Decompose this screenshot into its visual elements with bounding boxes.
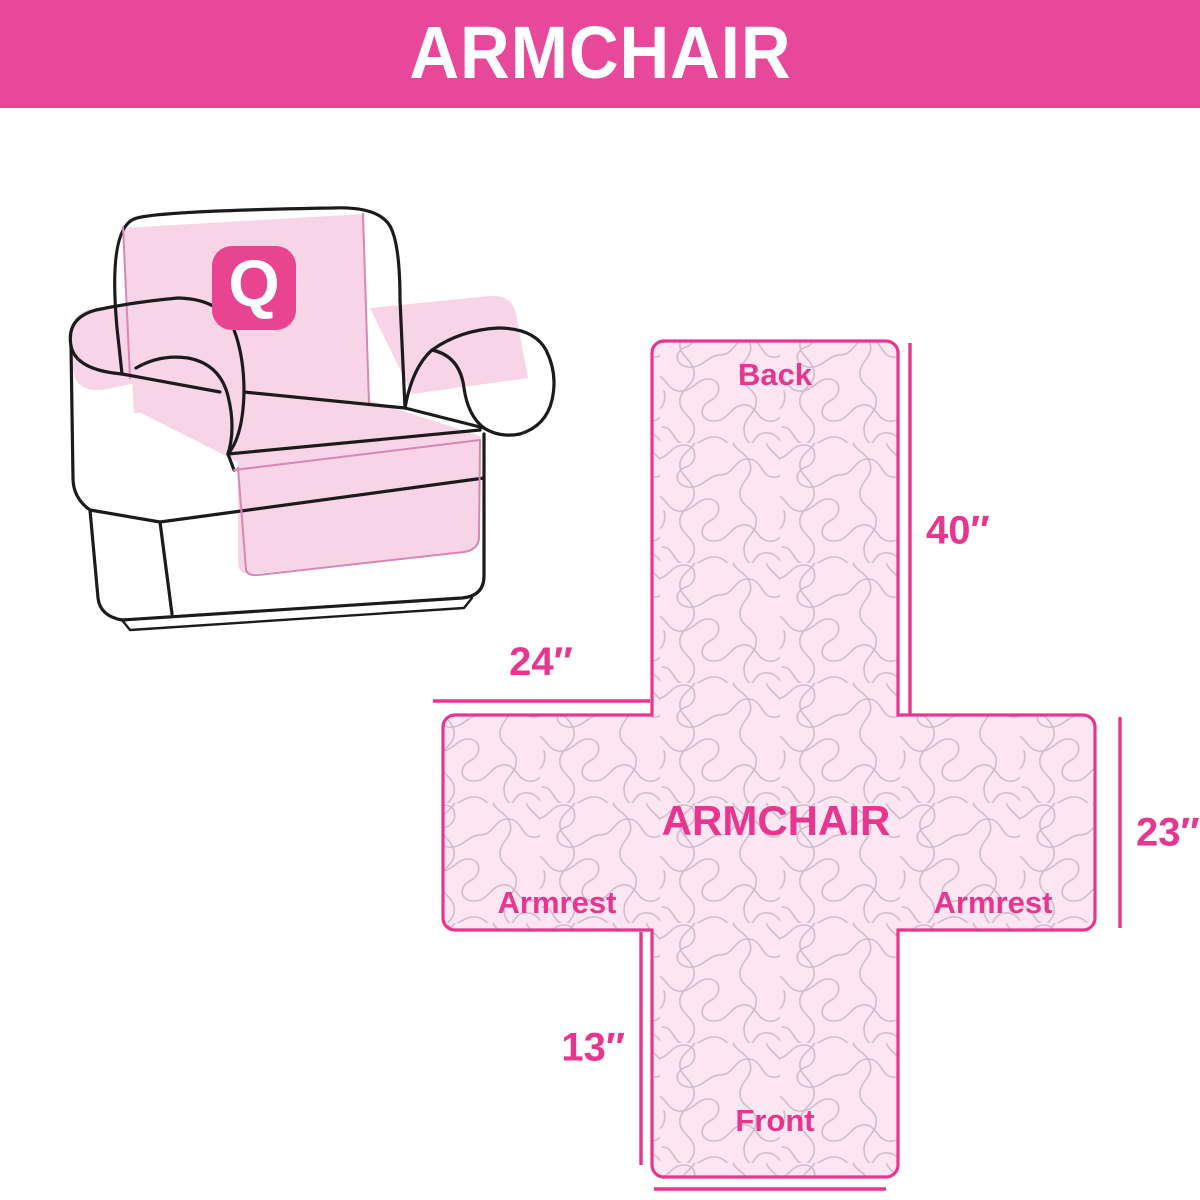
dimension-label-back-height: 40″ bbox=[926, 509, 990, 553]
size-chart-page: ARMCHAIR bbox=[0, 0, 1200, 1200]
logo-letter: Q bbox=[228, 246, 279, 320]
dimension-label-armrest-height: 23″ bbox=[1136, 811, 1200, 855]
dimension-label-armrest-left-width: 24″ bbox=[509, 640, 573, 684]
panel-label-front: Front bbox=[735, 1103, 814, 1138]
brand-logo: Q bbox=[212, 246, 296, 330]
panel-label-armrest-right: Armrest bbox=[934, 885, 1053, 920]
page-title: ARMCHAIR bbox=[409, 16, 791, 90]
header-band: ARMCHAIR bbox=[0, 0, 1200, 108]
cover-cross-shape bbox=[420, 323, 1200, 1193]
panel-label-back: Back bbox=[738, 357, 813, 392]
diagram-center-label: ARMCHAIR bbox=[662, 797, 891, 844]
dimension-label-front-width: 24″ bbox=[738, 1193, 802, 1200]
content-stage: Q bbox=[0, 108, 1200, 1200]
dimension-label-front-height: 13″ bbox=[561, 1026, 625, 1070]
cover-template-svg: Back ARMCHAIR Armrest Armrest Front bbox=[420, 323, 1200, 1193]
quilting-texture bbox=[420, 323, 1200, 1193]
cover-template-diagram: Back ARMCHAIR Armrest Armrest Front bbox=[420, 323, 1200, 1193]
panel-label-armrest-left: Armrest bbox=[498, 885, 617, 920]
